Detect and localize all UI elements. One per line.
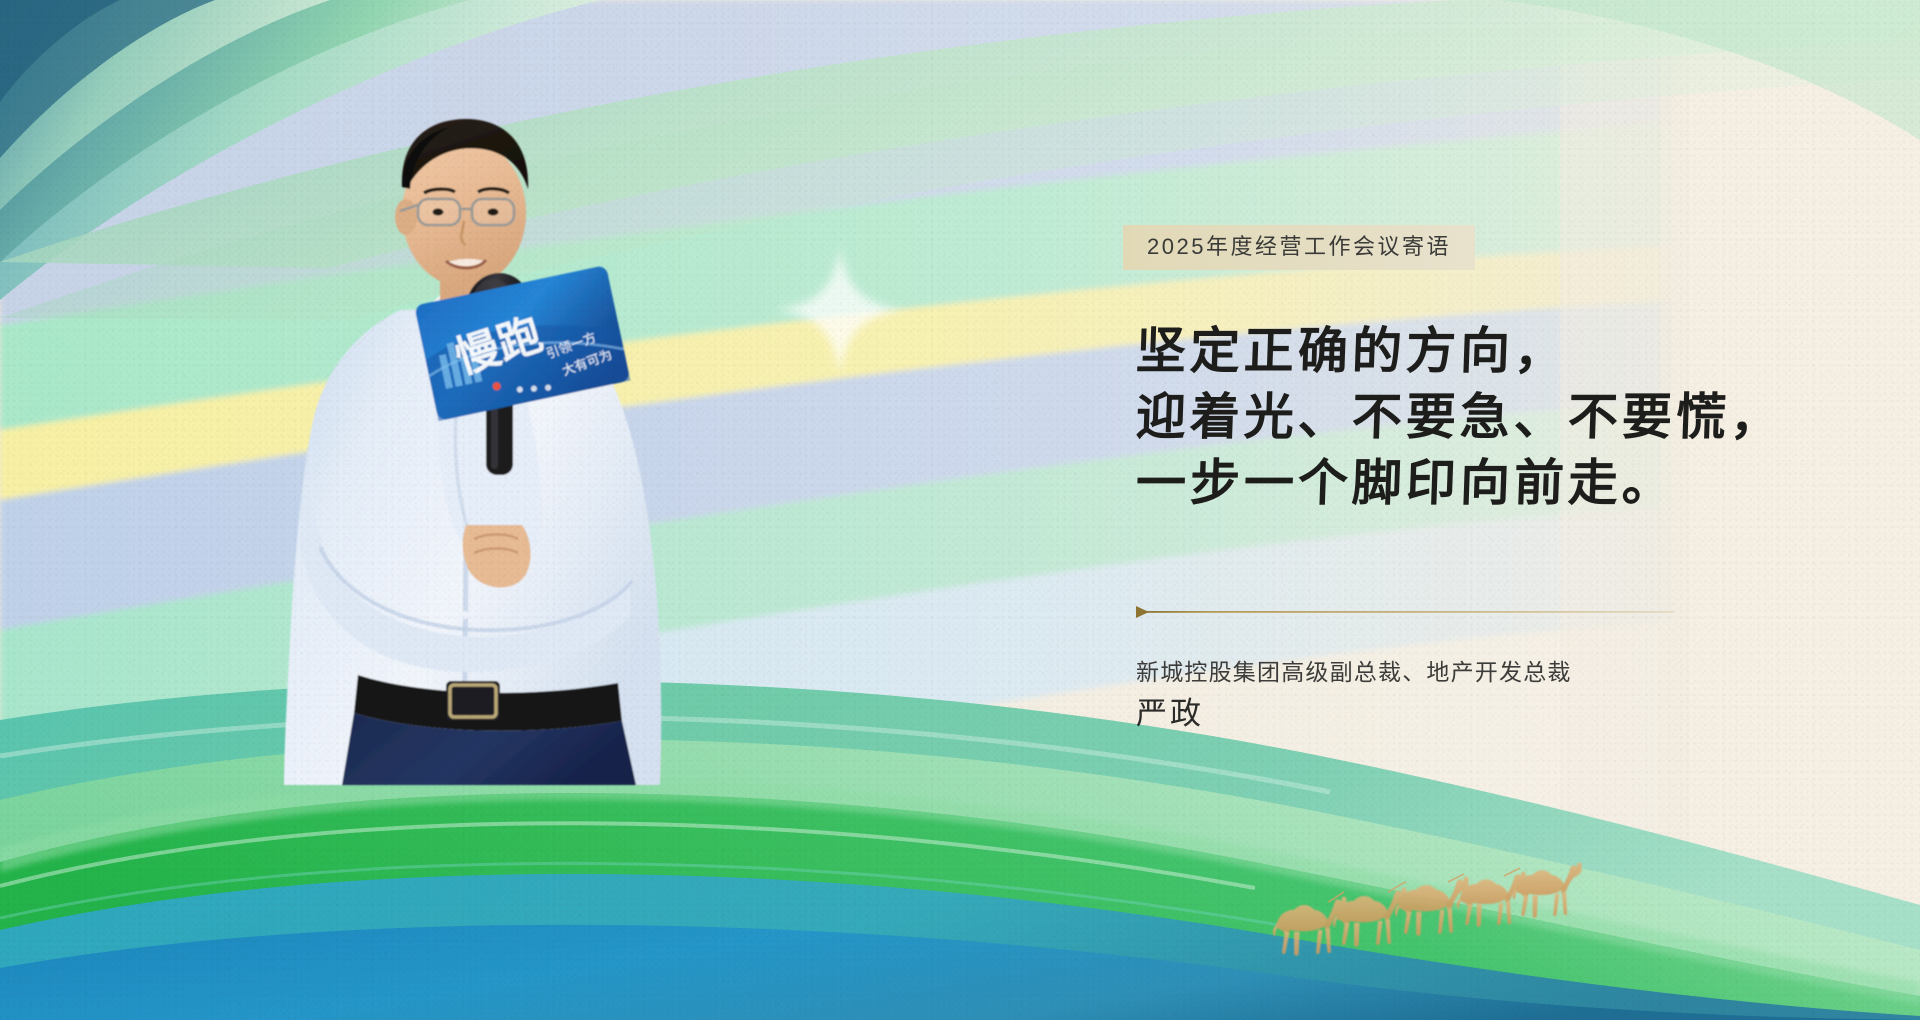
four-point-star-icon: [770, 240, 910, 380]
camel-caravan-illustration: [1270, 840, 1620, 970]
speaker-name: 严政: [1136, 691, 1572, 738]
gold-divider-rule: [1136, 605, 1674, 619]
quote-line-3: 一步一个脚印向前走。: [1135, 450, 1787, 516]
quote-line-1: 坚定正确的方向，: [1135, 318, 1787, 384]
poster-canvas: 慢跑 引领一方 大有可为 2025年度经营工作会议寄: [0, 0, 1920, 1020]
quote-block: 坚定正确的方向， 迎着光、不要急、不要慌， 一步一个脚印向前走。: [1136, 318, 1786, 516]
quote-line-2: 迎着光、不要急、不要慌，: [1135, 384, 1787, 450]
attribution-block: 新城控股集团高级副总裁、地产开发总裁 严政: [1136, 655, 1572, 737]
speaker-photo: 慢跑 引领一方 大有可为: [250, 95, 720, 785]
speaker-role: 新城控股集团高级副总裁、地产开发总裁: [1136, 655, 1572, 691]
meeting-badge: 2025年度经营工作会议寄语: [1123, 225, 1475, 270]
